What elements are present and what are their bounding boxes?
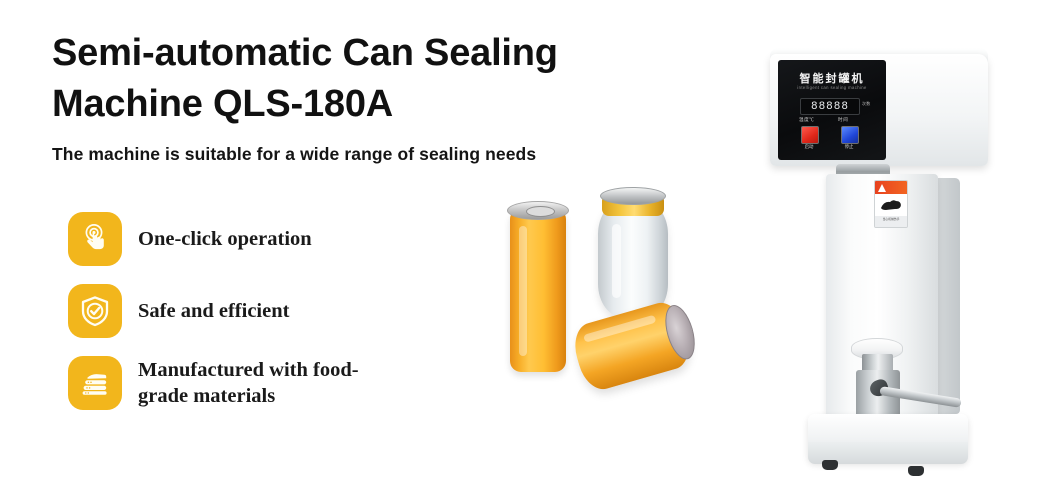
feature-item-one-click: One-click operation [68,212,468,266]
warning-triangle-icon [878,184,886,192]
control-panel: 智能封罐机 intelligent can sealing machine 88… [778,60,886,160]
digital-display: 88888 [800,98,860,115]
machine-body-side [938,178,960,414]
white-barrel-jar [598,200,668,318]
can-highlight [519,226,527,356]
feature-label: Safe and efficient [138,298,289,324]
stop-button-caption: 停止 [836,144,862,150]
jar-highlight [612,224,621,298]
panel-title: 智能封罐机 [778,70,886,86]
feature-item-safe-efficient: Safe and efficient [68,284,468,338]
upright-orange-can [510,210,566,372]
feature-label: One-click operation [138,226,312,252]
can-sealing-machine: 智能封罐机 intelligent can sealing machine 88… [752,46,1012,486]
sealed-cans-group [492,188,732,403]
product-banner: Semi-automatic Can Sealing Machine QLS-1… [0,0,1060,500]
stacked-layers-icon [68,356,122,410]
panel-label-left: 温度℃ [799,117,814,123]
page-title: Semi-automatic Can Sealing Machine QLS-1… [52,28,692,129]
start-button[interactable] [801,126,819,144]
warning-caption: 当心机械伤手 [875,216,907,228]
tilted-orange-can [569,298,695,394]
tap-hand-icon [68,212,122,266]
feature-label: Manufactured with food- grade materials [138,357,359,409]
machine-foot [822,460,838,470]
start-button-caption: 启动 [796,144,822,150]
display-unit-label: 次数 [862,101,871,107]
feature-list: One-click operation Safe and efficient [68,212,468,428]
jar-lid [600,187,666,205]
machine-foot [908,466,924,476]
pinch-hazard-warning: 当心机械伤手 [874,180,908,228]
warning-pictogram-icon [875,194,907,216]
stop-button[interactable] [841,126,859,144]
panel-label-right: 时间 [838,117,848,123]
can-highlight [583,315,656,343]
can-sealed-lid [660,302,700,363]
page-subtitle: The machine is suitable for a wide range… [52,144,692,165]
panel-subtitle: intelligent can sealing machine [778,85,886,90]
feature-item-food-grade: Manufactured with food- grade materials [68,356,468,410]
pull-tab-icon [526,206,555,217]
shield-check-icon [68,284,122,338]
warning-bar [875,181,907,194]
